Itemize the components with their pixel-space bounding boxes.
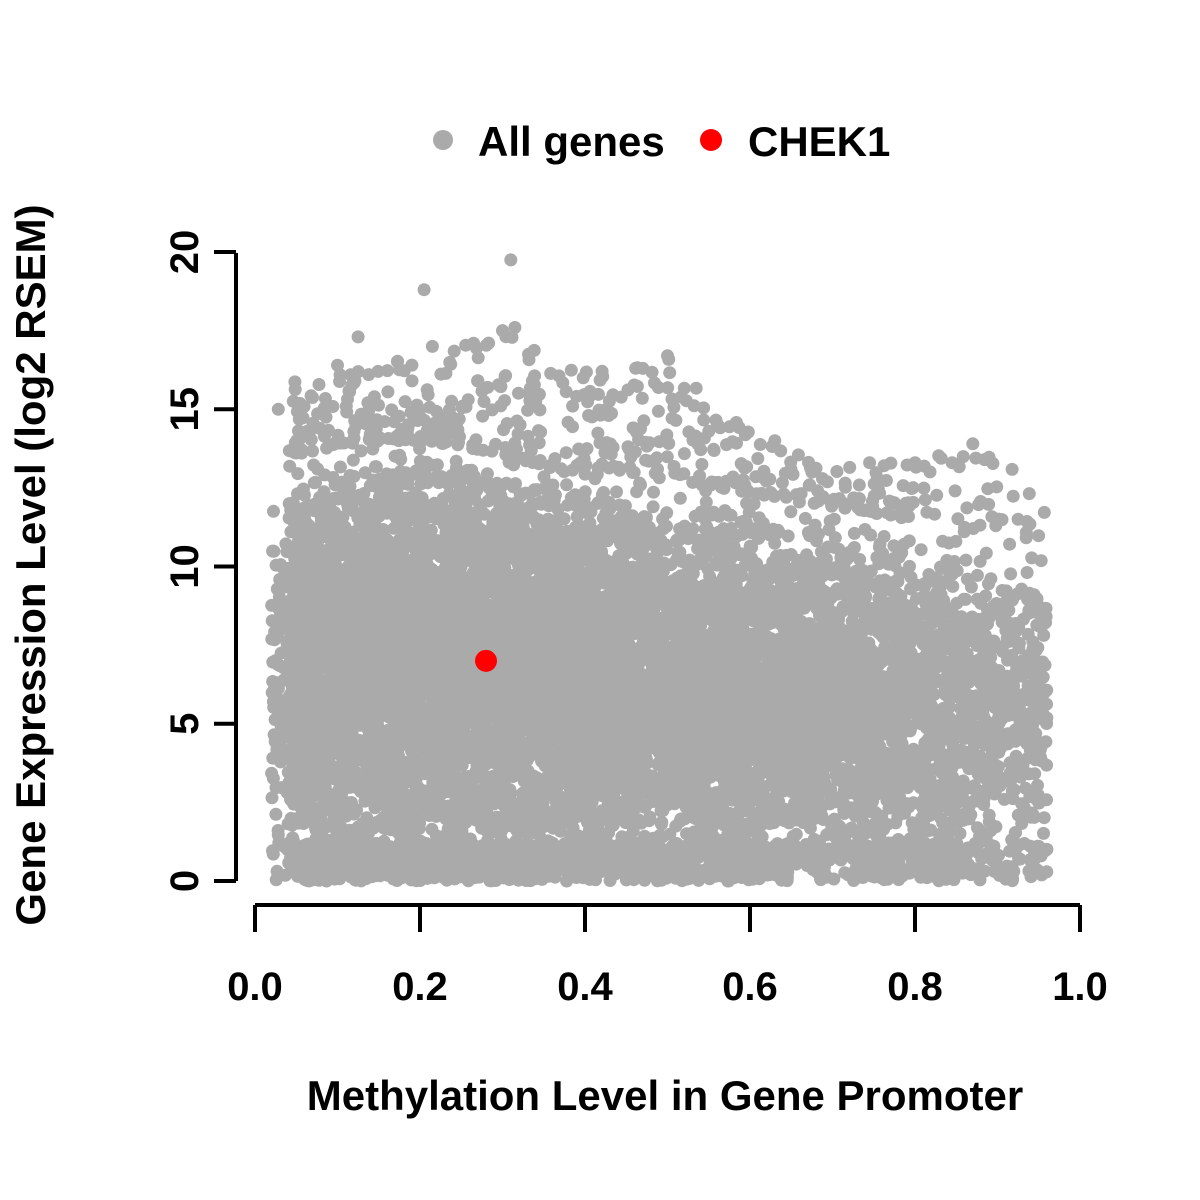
legend-marker-all-genes-icon	[433, 130, 453, 150]
x-tick-label: 0.2	[392, 965, 448, 1009]
y-tick-label: 0	[163, 870, 207, 892]
y-axis: 05101520	[163, 230, 236, 892]
y-axis-tick-labels: 05101520	[163, 230, 207, 892]
x-axis-title: Methylation Level in Gene Promoter	[307, 1072, 1023, 1119]
chek1-point[interactable]	[475, 650, 497, 672]
y-tick-label: 20	[163, 230, 207, 275]
legend-label-all-genes: All genes	[478, 118, 665, 165]
plot-canvas: 05101520 0.00.20.40.60.81.0 Methylation …	[0, 0, 1200, 1200]
x-axis-tick-labels: 0.00.20.40.60.81.0	[227, 965, 1108, 1009]
y-axis-title: Gene Expression Level (log2 RSEM)	[7, 204, 54, 925]
scatter-plot-figure: 05101520 0.00.20.40.60.81.0 Methylation …	[0, 0, 1200, 1200]
x-tick-label: 0.0	[227, 965, 283, 1009]
all-genes-point-cloud	[265, 253, 1053, 887]
x-tick-label: 0.4	[557, 965, 613, 1009]
y-tick-label: 15	[163, 387, 207, 432]
legend: All genes CHEK1	[433, 118, 890, 165]
x-axis: 0.00.20.40.60.81.0	[227, 905, 1108, 1009]
y-tick-label: 5	[163, 713, 207, 735]
x-tick-label: 1.0	[1052, 965, 1108, 1009]
legend-label-chek1: CHEK1	[748, 118, 890, 165]
x-axis-ticks	[255, 905, 1080, 932]
x-tick-label: 0.8	[887, 965, 943, 1009]
legend-marker-chek1-icon	[700, 129, 722, 151]
chek1-highlight-point[interactable]	[475, 650, 497, 672]
y-tick-label: 10	[163, 544, 207, 589]
y-axis-ticks	[214, 252, 236, 881]
x-tick-label: 0.6	[722, 965, 778, 1009]
